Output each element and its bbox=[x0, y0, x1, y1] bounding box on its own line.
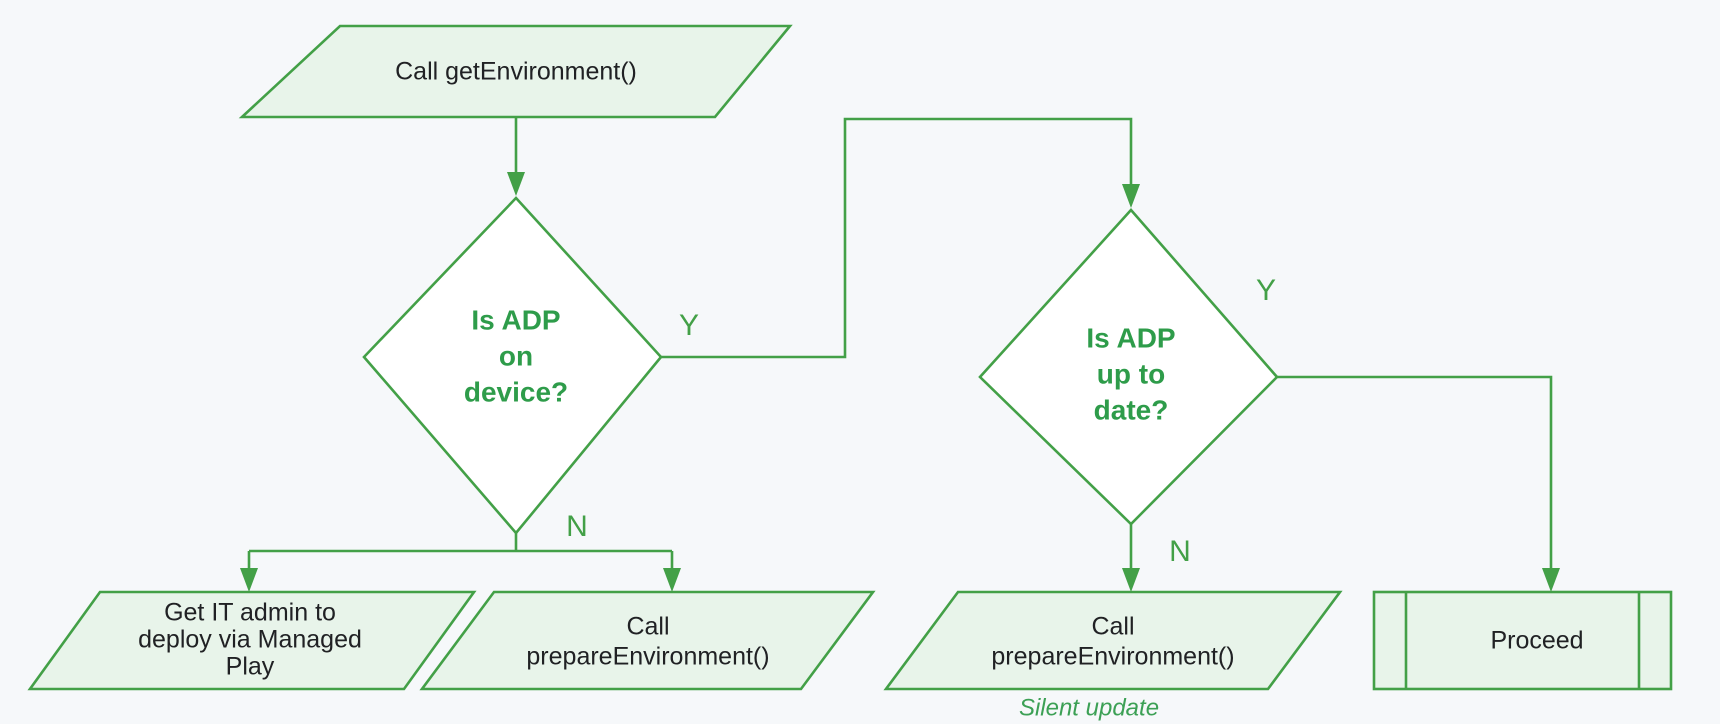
node-call-prepare-environment-left[interactable]: Call prepareEnvironment() bbox=[422, 592, 873, 689]
flowchart-svg: Call getEnvironment() Is ADP on device? … bbox=[0, 0, 1720, 724]
flowchart-canvas: Call getEnvironment() Is ADP on device? … bbox=[0, 0, 1720, 724]
edge-start-to-decision1 bbox=[507, 117, 525, 196]
branch-label-decision1-yes: Y bbox=[679, 309, 699, 342]
node-is-adp-up-to-date-line3: date? bbox=[1094, 394, 1169, 425]
node-call-prepare-environment-left-line2: prepareEnvironment() bbox=[526, 643, 769, 671]
node-is-adp-up-to-date-line1: Is ADP bbox=[1086, 322, 1175, 353]
node-call-prepare-environment-left-line1: Call bbox=[626, 613, 669, 641]
node-call-get-environment-label: Call getEnvironment() bbox=[395, 58, 637, 86]
edge-decision2-yes bbox=[1277, 377, 1560, 592]
node-call-get-environment[interactable]: Call getEnvironment() bbox=[242, 26, 790, 117]
node-is-adp-on-device-line2: on bbox=[499, 340, 533, 371]
node-proceed[interactable]: Proceed bbox=[1374, 592, 1671, 689]
node-proceed-label: Proceed bbox=[1490, 627, 1583, 655]
edge-decision1-no bbox=[240, 533, 681, 592]
node-get-it-admin-deploy-line1: Get IT admin to bbox=[164, 599, 336, 627]
node-is-adp-on-device-line3: device? bbox=[464, 376, 568, 407]
node-is-adp-up-to-date[interactable]: Is ADP up to date? bbox=[980, 210, 1277, 524]
branch-label-decision2-yes: Y bbox=[1256, 274, 1276, 307]
branch-label-decision1-no: N bbox=[566, 510, 588, 543]
node-is-adp-up-to-date-line2: up to bbox=[1097, 358, 1165, 389]
node-is-adp-on-device-line1: Is ADP bbox=[471, 304, 560, 335]
node-get-it-admin-deploy[interactable]: Get IT admin to deploy via Managed Play bbox=[30, 592, 474, 689]
node-is-adp-on-device[interactable]: Is ADP on device? bbox=[364, 198, 661, 533]
node-call-prepare-environment-right-line1: Call bbox=[1091, 613, 1134, 641]
node-get-it-admin-deploy-line2: deploy via Managed bbox=[138, 626, 362, 654]
node-call-prepare-environment-right-line2: prepareEnvironment() bbox=[991, 643, 1234, 671]
note-silent-update: Silent update bbox=[1019, 694, 1159, 721]
edge-decision2-no bbox=[1122, 524, 1140, 592]
branch-label-decision2-no: N bbox=[1169, 535, 1191, 568]
node-call-prepare-environment-right[interactable]: Call prepareEnvironment() bbox=[886, 592, 1340, 689]
node-get-it-admin-deploy-line3: Play bbox=[226, 653, 275, 681]
